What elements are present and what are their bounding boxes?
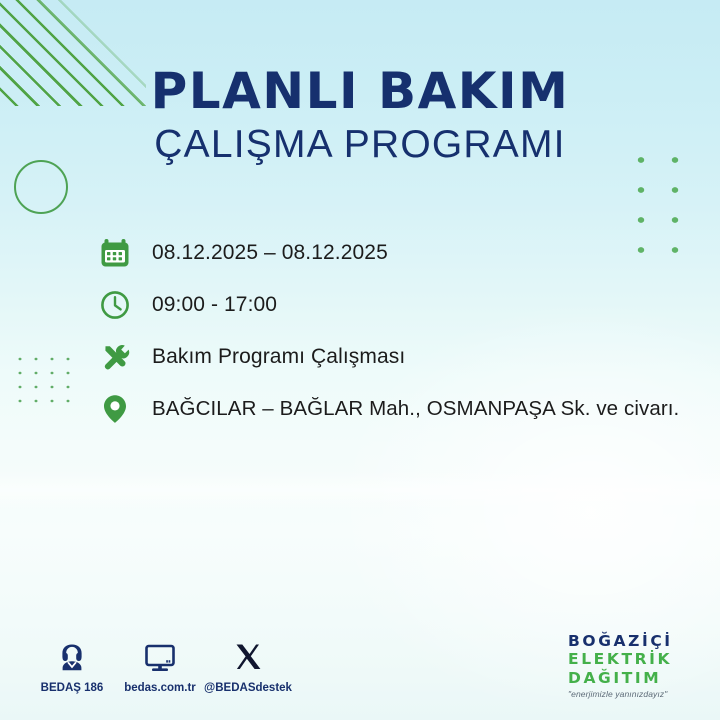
page-title: PLANLI BAKIM — [0, 66, 720, 116]
dot-grid-left-decoration — [12, 352, 70, 410]
footer: BEDAŞ 186 bedas.com.tr — [0, 636, 720, 720]
bedas-logo-tagline: "enerjimizle yanınızdayız" — [568, 689, 708, 699]
info-row-time: 09:00 - 17:00 — [98, 279, 708, 331]
footer-item-call-center[interactable]: BEDAŞ 186 — [28, 636, 116, 694]
footer-item-website-label: bedas.com.tr — [116, 682, 204, 694]
footer-item-website[interactable]: bedas.com.tr — [116, 636, 204, 694]
calendar-icon — [98, 232, 140, 274]
info-row-time-text: 09:00 - 17:00 — [140, 293, 277, 317]
info-row-location-text: BAĞCILAR – BAĞLAR Mah., OSMANPAŞA Sk. ve… — [140, 397, 679, 421]
bedas-logo-line1: BOĞAZİÇİ — [568, 632, 708, 650]
info-row-date: 08.12.2025 – 08.12.2025 — [98, 227, 708, 279]
bedas-logo: BOĞAZİÇİ ELEKTRİK DAĞITIM "enerjimizle y… — [568, 632, 708, 699]
footer-item-twitter[interactable]: @BEDASdestek — [204, 636, 292, 694]
page-title-block: PLANLI BAKIM ÇALIŞMA PROGRAMI — [0, 66, 720, 167]
bedas-logo-line3: DAĞITIM — [568, 669, 708, 687]
footer-item-call-center-label: BEDAŞ 186 — [28, 682, 116, 694]
info-row-worktype: Bakım Programı Çalışması — [98, 331, 708, 383]
planned-maintenance-poster: PLANLI BAKIM ÇALIŞMA PROGRAMI — [0, 0, 720, 720]
info-row-date-text: 08.12.2025 – 08.12.2025 — [140, 241, 388, 265]
location-pin-icon — [98, 388, 140, 430]
info-list: 08.12.2025 – 08.12.2025 09:00 - 17:00 — [98, 227, 708, 435]
info-row-worktype-text: Bakım Programı Çalışması — [140, 345, 405, 369]
footer-social-links: BEDAŞ 186 bedas.com.tr — [28, 636, 292, 694]
footer-item-twitter-label: @BEDASdestek — [204, 682, 292, 694]
bedas-logo-line2: ELEKTRİK — [568, 650, 708, 668]
clock-icon — [98, 284, 140, 326]
background-band — [0, 470, 720, 510]
info-row-location: BAĞCILAR – BAĞLAR Mah., OSMANPAŞA Sk. ve… — [98, 383, 708, 435]
x-twitter-icon — [204, 636, 292, 678]
circle-outline-decoration — [14, 160, 68, 214]
headset-icon — [28, 636, 116, 678]
page-subtitle: ÇALIŞMA PROGRAMI — [0, 124, 720, 167]
tools-icon — [98, 336, 140, 378]
monitor-icon — [116, 636, 204, 678]
